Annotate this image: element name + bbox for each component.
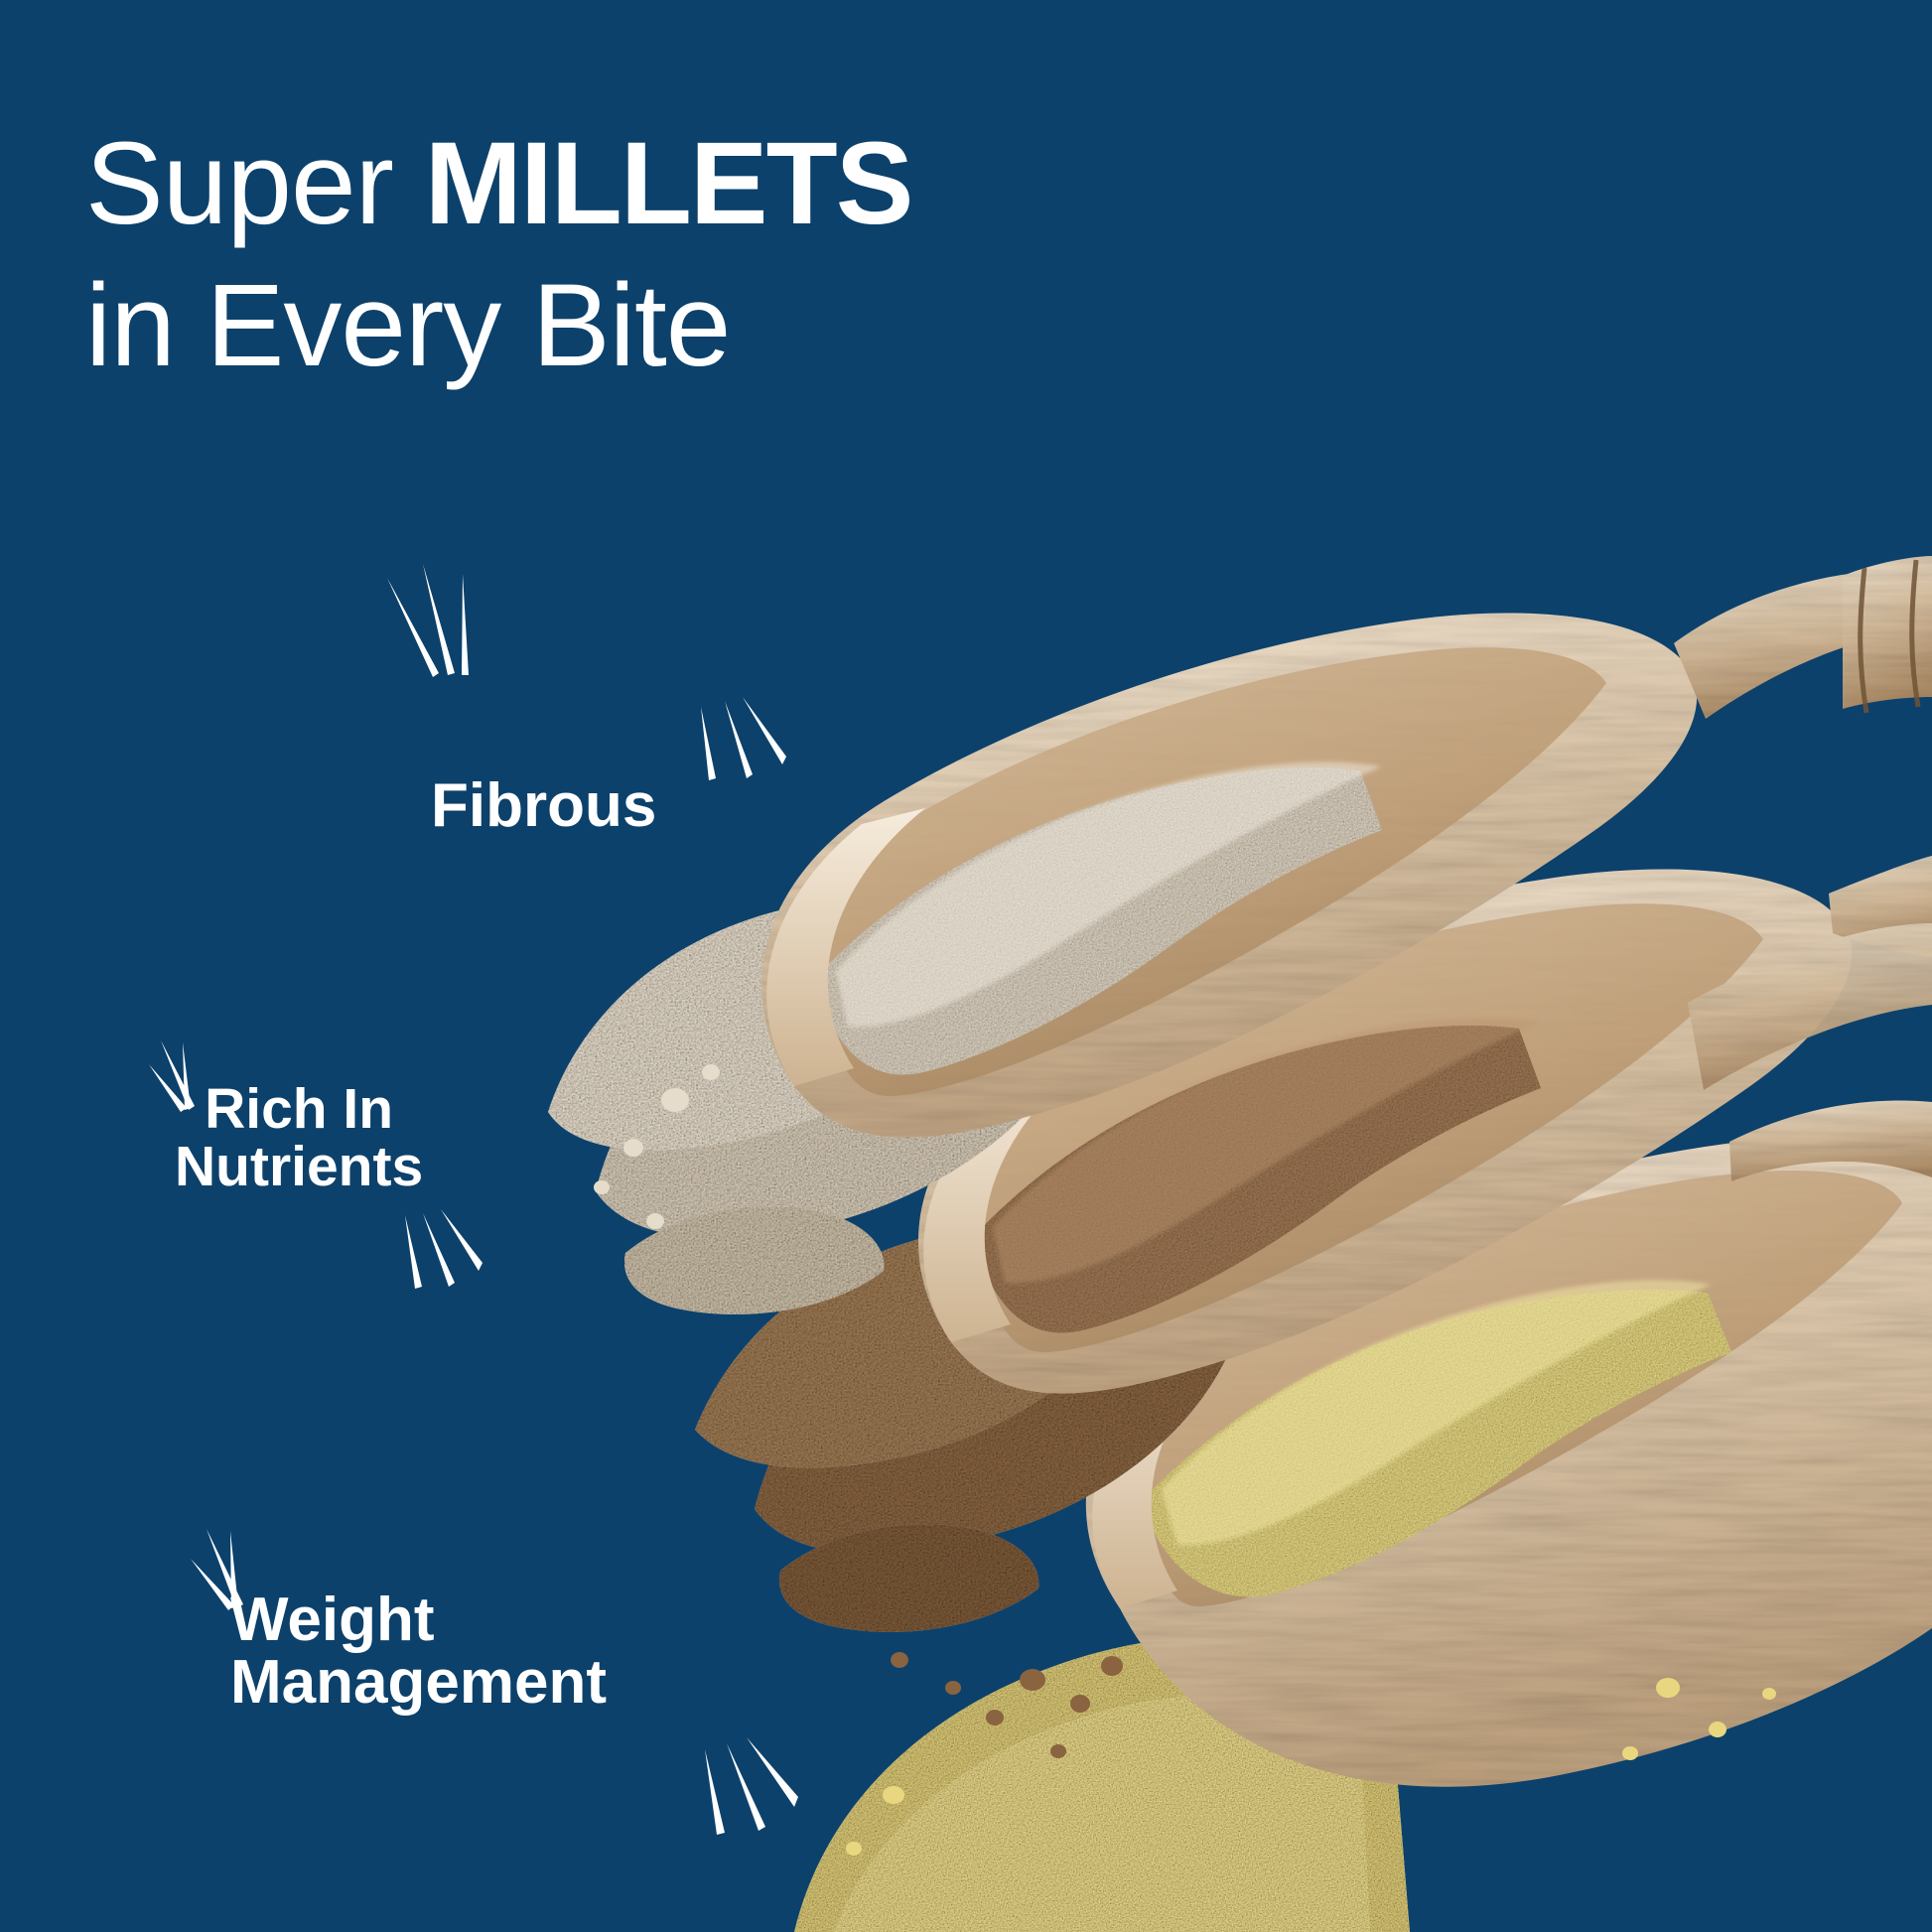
- headline-line-2: in Every Bite: [85, 266, 1277, 385]
- sparkle-burst-fibrous-bottom: [695, 695, 804, 804]
- scoop-buckwheat: [695, 856, 1932, 1758]
- headline-word-super: Super: [85, 118, 425, 249]
- scoop-pearl-millet: [548, 556, 1932, 1314]
- sparkle-burst-fibrous-top: [377, 556, 506, 705]
- page-title: Super MILLETS in Every Bite: [85, 124, 1277, 385]
- yellow-millet-specks: [846, 1678, 1776, 1856]
- headline-line-1: Super MILLETS: [85, 124, 1277, 243]
- benefit-rich-in-nutrients: Rich In Nutrients: [175, 1080, 423, 1195]
- pearl-millet-grain: [764, 715, 1479, 1132]
- buckwheat-grain: [923, 973, 1638, 1390]
- pearl-millet-spill: [548, 899, 1100, 1314]
- benefit-nutrients-line-1: Rich In: [175, 1080, 423, 1138]
- sparkle-burst-weight-bottom: [701, 1735, 830, 1864]
- headline-word-millets: MILLETS: [425, 118, 912, 249]
- benefit-weight-line-1: Weight: [230, 1588, 607, 1651]
- benefit-fibrous-line-1: Fibrous: [431, 774, 656, 837]
- benefit-fibrous: Fibrous: [431, 774, 656, 837]
- benefit-nutrients-line-2: Nutrients: [175, 1138, 423, 1195]
- benefit-weight-line-2: Management: [230, 1651, 607, 1714]
- buckwheat-spill: [695, 1225, 1243, 1758]
- yellow-millet-grain: [1092, 1241, 1787, 1658]
- scoop-yellow-millet: [794, 1101, 1932, 1932]
- benefit-weight-management: Weight Management: [230, 1588, 607, 1714]
- yellow-millet-spill: [794, 1636, 1410, 1932]
- sparkle-burst-nutrients-bottom: [401, 1207, 510, 1316]
- handle-ring-lines: [1861, 560, 1918, 713]
- millets-poster: Super MILLETS in Every Bite Fibrous Rich…: [0, 0, 1932, 1932]
